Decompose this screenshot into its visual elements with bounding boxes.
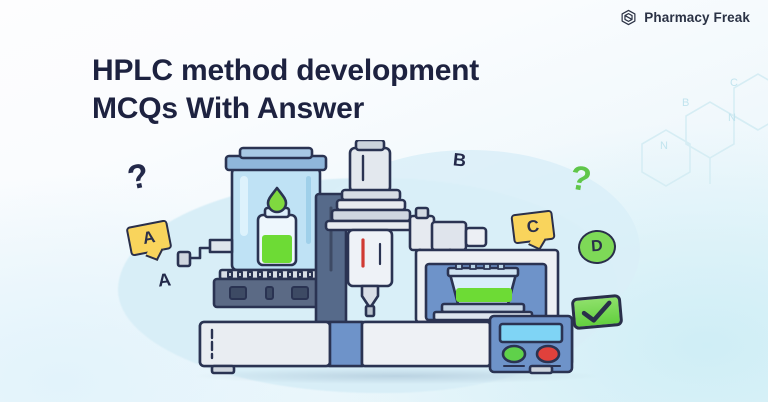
atom-label-n2: N — [660, 140, 668, 152]
banner-canvas: C B N N Pharmacy Freak HPLC method devel… — [0, 0, 768, 402]
atom-label-c: C — [730, 77, 738, 89]
title-line-2: MCQs With Answer — [92, 90, 712, 128]
page-title: HPLC method development MCQs With Answer — [92, 52, 712, 127]
hexagon-logo-icon — [620, 9, 637, 26]
title-line-1: HPLC method development — [92, 52, 712, 90]
brand-logo: Pharmacy Freak — [620, 9, 750, 26]
atom-label-n1: N — [728, 112, 736, 124]
brand-name: Pharmacy Freak — [644, 10, 750, 25]
hplc-instrument-illustration — [120, 140, 590, 390]
